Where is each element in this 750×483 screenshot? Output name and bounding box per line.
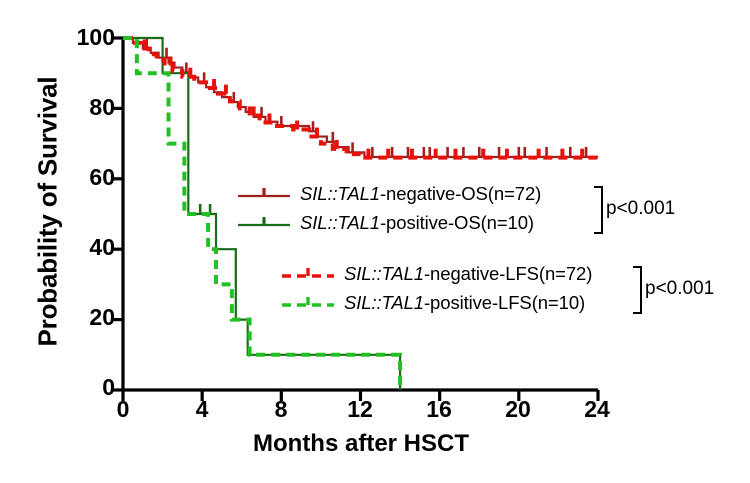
legend-n: (n=72): [488, 183, 541, 204]
legend-key-negative-os: [238, 185, 290, 203]
series-line-sil-tal1-negative-lfs: [123, 38, 598, 158]
legend-item-negative-os[interactable]: SIL::TAL1-negative-OS(n=72): [238, 183, 541, 205]
legend-gene-italic: SIL::TAL1: [344, 292, 424, 313]
legend-label-positive-lfs: SIL::TAL1-positive-LFS(n=10): [344, 292, 585, 314]
pvalue-os: p<0.001: [606, 198, 675, 220]
legend-item-positive-lfs[interactable]: SIL::TAL1-positive-LFS(n=10): [282, 292, 585, 314]
legend-gene-italic: SIL::TAL1: [344, 263, 424, 284]
legend-suffix: -negative-LFS: [424, 263, 539, 284]
legend-label-negative-os: SIL::TAL1-negative-OS(n=72): [300, 183, 541, 205]
legend-key-positive-lfs: [282, 294, 334, 312]
pvalue-lfs: p<0.001: [645, 278, 714, 300]
bracket-os: [594, 186, 603, 234]
legend-item-negative-lfs[interactable]: SIL::TAL1-negative-LFS(n=72): [282, 263, 592, 285]
legend-key-negative-lfs: [282, 265, 334, 283]
legend-item-positive-os[interactable]: SIL::TAL1-positive-OS(n=10): [238, 212, 534, 234]
survival-chart-figure: Probability of Survival 100 80 60 40 20 …: [0, 0, 750, 483]
legend-n: (n=10): [532, 292, 585, 313]
legend-gene-italic: SIL::TAL1: [300, 212, 380, 233]
legend-suffix: -positive-OS: [380, 212, 481, 233]
plot-area: [0, 0, 750, 483]
legend-n: (n=10): [481, 212, 534, 233]
series-line-sil-tal1-negative-os: [123, 38, 598, 157]
legend-suffix: -negative-OS: [380, 183, 488, 204]
legend-suffix: -positive-LFS: [424, 292, 532, 313]
bracket-lfs: [633, 266, 642, 314]
legend-n: (n=72): [539, 263, 592, 284]
legend-key-positive-os: [238, 214, 290, 232]
legend-label-positive-os: SIL::TAL1-positive-OS(n=10): [300, 212, 534, 234]
legend-label-negative-lfs: SIL::TAL1-negative-LFS(n=72): [344, 263, 592, 285]
legend-gene-italic: SIL::TAL1: [300, 183, 380, 204]
